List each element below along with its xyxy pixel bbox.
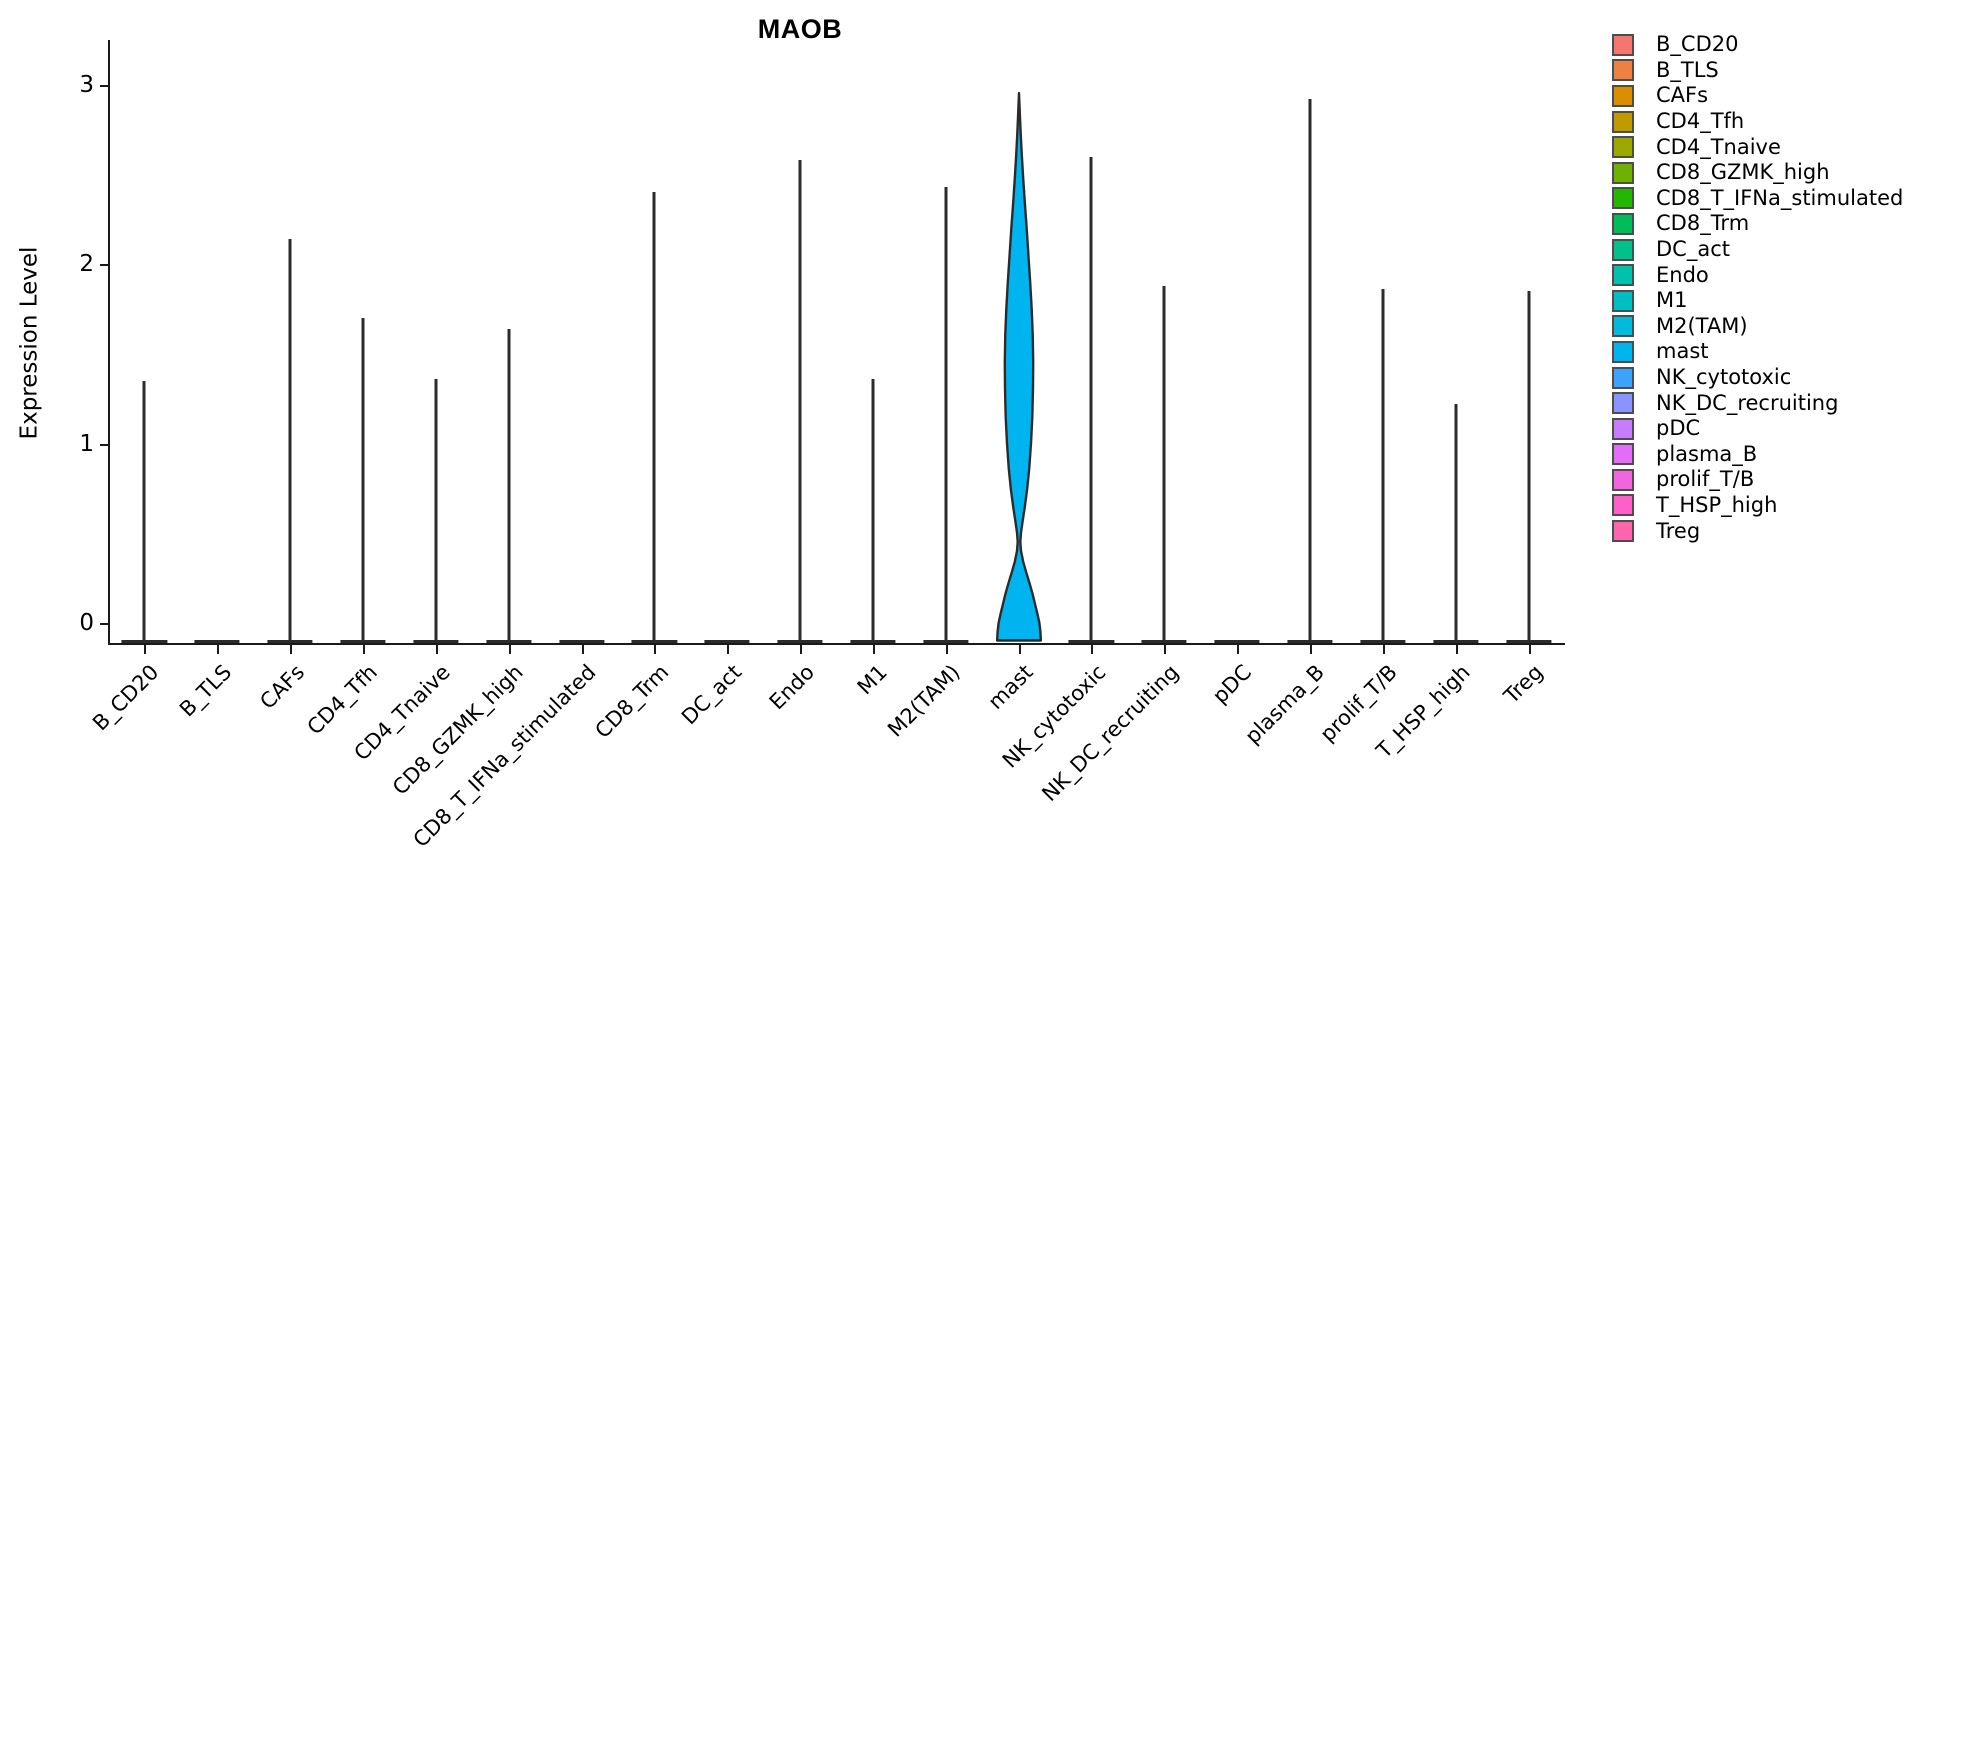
violin-treg[interactable] xyxy=(1492,40,1565,643)
legend-item[interactable]: prolif_T/B xyxy=(1612,467,1962,493)
x-tick-mark xyxy=(582,645,584,654)
y-tick-mark xyxy=(100,444,108,446)
legend-label: Endo xyxy=(1656,265,1709,286)
violin-spike xyxy=(361,318,364,643)
legend-item[interactable]: NK_cytotoxic xyxy=(1612,365,1962,391)
legend-swatch-icon xyxy=(1612,187,1634,209)
x-tick-mark xyxy=(436,645,438,654)
legend-item[interactable]: Endo xyxy=(1612,262,1962,288)
violin-cd8-trm[interactable] xyxy=(618,40,691,643)
violin-spike xyxy=(507,329,510,643)
legend-item[interactable]: plasma_B xyxy=(1612,442,1962,468)
violin-spike xyxy=(1454,404,1457,643)
x-tick-mark xyxy=(727,645,729,654)
legend-label: plasma_B xyxy=(1656,444,1757,465)
legend-item[interactable]: mast xyxy=(1612,339,1962,365)
violin-spike xyxy=(1381,289,1384,643)
legend-item[interactable]: CD8_GZMK_high xyxy=(1612,160,1962,186)
legend-item[interactable]: CD8_Trm xyxy=(1612,211,1962,237)
y-axis-label-text: Expression Level xyxy=(16,246,42,439)
legend-item[interactable]: pDC xyxy=(1612,416,1962,442)
legend-label: B_TLS xyxy=(1656,60,1719,81)
legend-swatch-icon xyxy=(1612,443,1634,465)
legend-item[interactable]: NK_DC_recruiting xyxy=(1612,390,1962,416)
legend-swatch-icon xyxy=(1612,264,1634,286)
violin-cd4-tfh[interactable] xyxy=(327,40,400,643)
violin-baseline xyxy=(1215,640,1260,643)
y-axis-label: Expression Level xyxy=(14,40,44,645)
x-tick-label: pDC xyxy=(363,660,1256,1553)
violin-nk-cytotoxic[interactable] xyxy=(1055,40,1128,643)
violin-t-hsp-high[interactable] xyxy=(1419,40,1492,643)
legend-swatch-icon xyxy=(1612,111,1634,133)
x-tick-label: M2(TAM) xyxy=(278,660,965,1347)
legend-label: CAFs xyxy=(1656,85,1708,106)
x-tick-mark xyxy=(1456,645,1458,654)
legend-swatch-icon xyxy=(1612,239,1634,261)
y-tick-mark xyxy=(100,85,108,87)
legend-swatch-icon xyxy=(1612,494,1634,516)
legend-swatch-icon xyxy=(1612,136,1634,158)
legend-swatch-icon xyxy=(1612,85,1634,107)
x-tick-mark xyxy=(1164,645,1166,654)
legend-swatch-icon xyxy=(1612,418,1634,440)
x-tick-mark xyxy=(946,645,948,654)
legend-label: CD8_T_IFNa_stimulated xyxy=(1656,188,1903,209)
legend-swatch-icon xyxy=(1612,162,1634,184)
legend-swatch-icon xyxy=(1612,290,1634,312)
x-tick-mark xyxy=(654,645,656,654)
legend-swatch-icon xyxy=(1612,315,1634,337)
legend-swatch-icon xyxy=(1612,341,1634,363)
violin-b-tls[interactable] xyxy=(181,40,254,643)
legend-swatch-icon xyxy=(1612,469,1634,491)
x-tick-label: Treg xyxy=(448,660,1547,1759)
legend-label: Treg xyxy=(1656,521,1700,542)
violin-plasma-b[interactable] xyxy=(1274,40,1347,643)
violin-prolif-t-b[interactable] xyxy=(1346,40,1419,643)
violin-cd8-gzmk-high[interactable] xyxy=(472,40,545,643)
legend-label: CD8_Trm xyxy=(1656,213,1749,234)
legend-item[interactable]: M2(TAM) xyxy=(1612,314,1962,340)
violin-cd4-tnaive[interactable] xyxy=(399,40,472,643)
violin-body[interactable] xyxy=(995,91,1043,643)
legend-item[interactable]: CAFs xyxy=(1612,83,1962,109)
legend-label: CD8_GZMK_high xyxy=(1656,162,1830,183)
violin-spike xyxy=(653,192,656,643)
x-tick-mark xyxy=(509,645,511,654)
violin-m2-tam-[interactable] xyxy=(909,40,982,643)
legend: B_CD20B_TLSCAFsCD4_TfhCD4_TnaiveCD8_GZMK… xyxy=(1612,32,1962,544)
violin-spike xyxy=(1527,291,1530,643)
x-axis-spine xyxy=(108,643,1565,645)
y-tick-label: 2 xyxy=(79,251,94,277)
y-tick-label: 0 xyxy=(79,610,94,636)
violin-spike xyxy=(289,239,292,643)
violin-b-cd20[interactable] xyxy=(108,40,181,643)
plot-axes: 0123 xyxy=(108,40,1565,645)
legend-swatch-icon xyxy=(1612,34,1634,56)
x-tick-label: CD4_Tfh xyxy=(107,660,382,935)
legend-label: T_HSP_high xyxy=(1656,495,1777,516)
violin-spike xyxy=(434,379,437,643)
legend-label: DC_act xyxy=(1656,239,1730,260)
legend-label: CD4_Tfh xyxy=(1656,111,1744,132)
x-tick-mark xyxy=(1529,645,1531,654)
violin-baseline xyxy=(705,640,750,643)
x-tick-mark xyxy=(217,645,219,654)
violin-cafs[interactable] xyxy=(254,40,327,643)
x-tick-mark xyxy=(873,645,875,654)
x-tick-mark xyxy=(1019,645,1021,654)
legend-swatch-icon xyxy=(1612,392,1634,414)
violin-baseline xyxy=(559,640,604,643)
violin-nk-dc-recruiting[interactable] xyxy=(1128,40,1201,643)
violin-mast[interactable] xyxy=(982,40,1055,643)
x-tick-mark xyxy=(1310,645,1312,654)
x-tick-mark xyxy=(144,645,146,654)
x-tick-mark xyxy=(1383,645,1385,654)
x-tick-mark xyxy=(1237,645,1239,654)
violin-spike xyxy=(143,381,146,643)
violin-baseline xyxy=(195,640,240,643)
legend-swatch-icon xyxy=(1612,367,1634,389)
legend-label: M1 xyxy=(1656,290,1687,311)
y-tick-mark xyxy=(100,264,108,266)
legend-label: CD4_Tnaive xyxy=(1656,137,1781,158)
x-tick-mark xyxy=(800,645,802,654)
legend-item[interactable]: CD8_T_IFNa_stimulated xyxy=(1612,186,1962,212)
legend-swatch-icon xyxy=(1612,520,1634,542)
violin-spike xyxy=(871,379,874,643)
violin-spike xyxy=(944,187,947,643)
legend-item[interactable]: B_CD20 xyxy=(1612,32,1962,58)
legend-label: prolif_T/B xyxy=(1656,469,1754,490)
violin-cd8-t-ifna-stimulated[interactable] xyxy=(545,40,618,643)
x-tick-mark xyxy=(290,645,292,654)
violin-spike xyxy=(799,160,802,643)
legend-item[interactable]: Treg xyxy=(1612,518,1962,544)
legend-label: NK_DC_recruiting xyxy=(1656,393,1838,414)
violin-spike xyxy=(1090,157,1093,644)
legend-item[interactable]: CD4_Tnaive xyxy=(1612,134,1962,160)
legend-label: pDC xyxy=(1656,418,1700,439)
legend-item[interactable]: CD4_Tfh xyxy=(1612,109,1962,135)
legend-item[interactable]: T_HSP_high xyxy=(1612,493,1962,519)
legend-label: mast xyxy=(1656,341,1709,362)
x-tick-mark xyxy=(363,645,365,654)
violin-dc-act[interactable] xyxy=(691,40,764,643)
y-tick-label: 3 xyxy=(79,72,94,98)
x-tick-label: CD8_Trm xyxy=(192,660,673,1141)
legend-label: B_CD20 xyxy=(1656,34,1738,55)
legend-item[interactable]: DC_act xyxy=(1612,237,1962,263)
y-tick-label: 1 xyxy=(79,431,94,457)
legend-item[interactable]: M1 xyxy=(1612,288,1962,314)
violin-m1[interactable] xyxy=(837,40,910,643)
y-tick-mark xyxy=(100,623,108,625)
violin-spike xyxy=(1309,99,1312,643)
legend-label: M2(TAM) xyxy=(1656,316,1748,337)
x-tick-mark xyxy=(1091,645,1093,654)
legend-item[interactable]: B_TLS xyxy=(1612,58,1962,84)
violin-spike xyxy=(1163,286,1166,643)
violin-plot-figure: MAOB Expression Level 0123 B_CD20B_TLSCA… xyxy=(0,0,1965,900)
violin-endo[interactable] xyxy=(764,40,837,643)
violin-pdc[interactable] xyxy=(1201,40,1274,643)
legend-label: NK_cytotoxic xyxy=(1656,367,1791,388)
legend-swatch-icon xyxy=(1612,59,1634,81)
legend-swatch-icon xyxy=(1612,213,1634,235)
